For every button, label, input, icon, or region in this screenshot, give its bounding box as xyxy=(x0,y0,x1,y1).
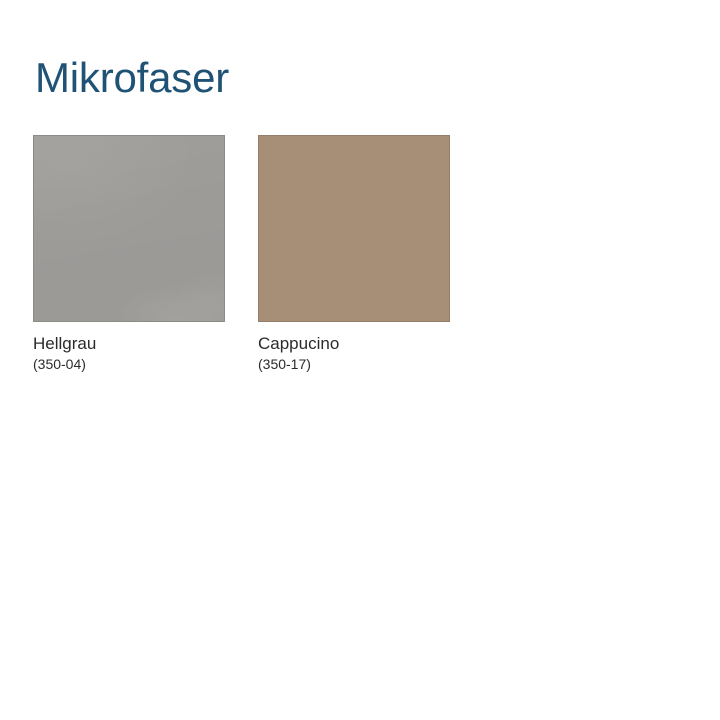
swatch-item-cappucino[interactable]: Cappucino (350-17) xyxy=(258,135,450,373)
swatch-name-hellgrau: Hellgrau xyxy=(33,334,96,354)
swatch-caption-hellgrau: Hellgrau (350-04) xyxy=(33,322,96,373)
swatch-code-cappucino: (350-17) xyxy=(258,354,339,373)
color-chip-hellgrau[interactable] xyxy=(33,135,225,322)
swatch-grid: Hellgrau (350-04) Cappucino (350-17) xyxy=(33,135,450,373)
swatch-item-hellgrau[interactable]: Hellgrau (350-04) xyxy=(33,135,225,373)
swatch-caption-cappucino: Cappucino (350-17) xyxy=(258,322,339,373)
material-swatch-page: Mikrofaser Hellgrau (350-04) Cappucino (… xyxy=(0,0,720,720)
swatch-code-hellgrau: (350-04) xyxy=(33,354,96,373)
color-chip-cappucino[interactable] xyxy=(258,135,450,322)
swatch-name-cappucino: Cappucino xyxy=(258,334,339,354)
page-title: Mikrofaser xyxy=(35,52,229,104)
